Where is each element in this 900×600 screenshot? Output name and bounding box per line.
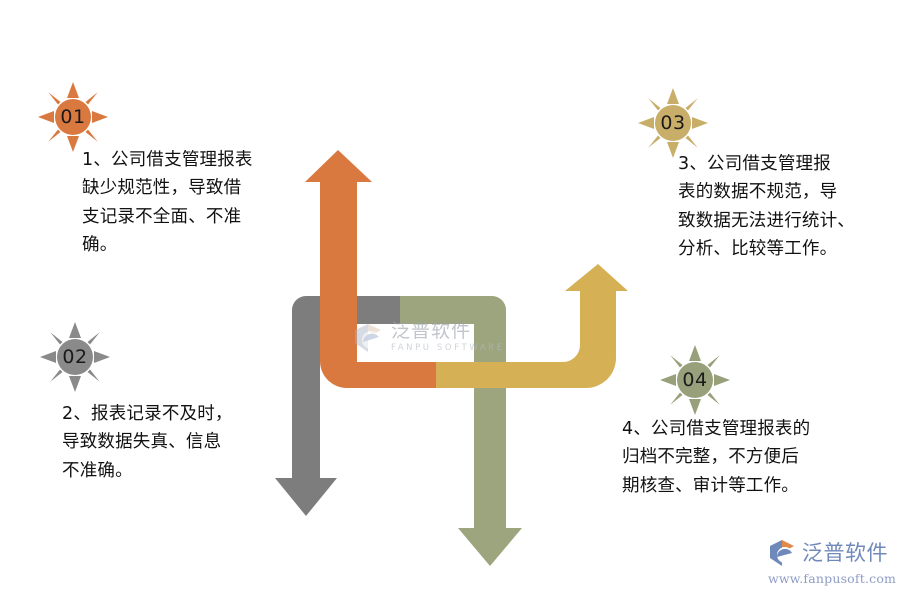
badge-03: 03 [638, 88, 708, 158]
fanpu-corner-logo: 泛普软件 www.fanpusoft.com [768, 536, 893, 592]
arrow-diagram [0, 0, 900, 600]
badge-02: 02 [40, 322, 110, 392]
badge-number-01: 01 [38, 82, 108, 152]
note-text-04: 4、公司借支管理报表的 归档不完整，不方便后 期核查、审计等工作。 [622, 415, 862, 500]
fanpu-logo-icon-corner [768, 538, 798, 568]
badge-01: 01 [38, 82, 108, 152]
sage-arrow [400, 296, 522, 566]
logo-cn-text: 泛普软件 [802, 543, 888, 564]
badge-04: 04 [660, 345, 730, 415]
badge-number-03: 03 [638, 88, 708, 158]
note-text-02: 2、报表记录不及时， 导致数据失真、信息 不准确。 [62, 400, 282, 485]
note-text-01: 1、公司借支管理报表 缺少规范性，导致借 支记录不全面、不准 确。 [82, 146, 302, 259]
gold-arrow [436, 264, 628, 388]
note-text-03: 3、公司借支管理报 表的数据不规范，导 致数据无法进行统计、 分析、比较等工作。 [678, 150, 900, 263]
badge-number-04: 04 [660, 345, 730, 415]
logo-url-text: www.fanpusoft.com [768, 571, 893, 586]
badge-number-02: 02 [40, 322, 110, 392]
infographic-canvas: 泛普软件 FANPU SOFTWARE 01 1、公司借支管理报表 缺少规范性，… [0, 0, 900, 600]
orange-arrow [305, 150, 436, 388]
